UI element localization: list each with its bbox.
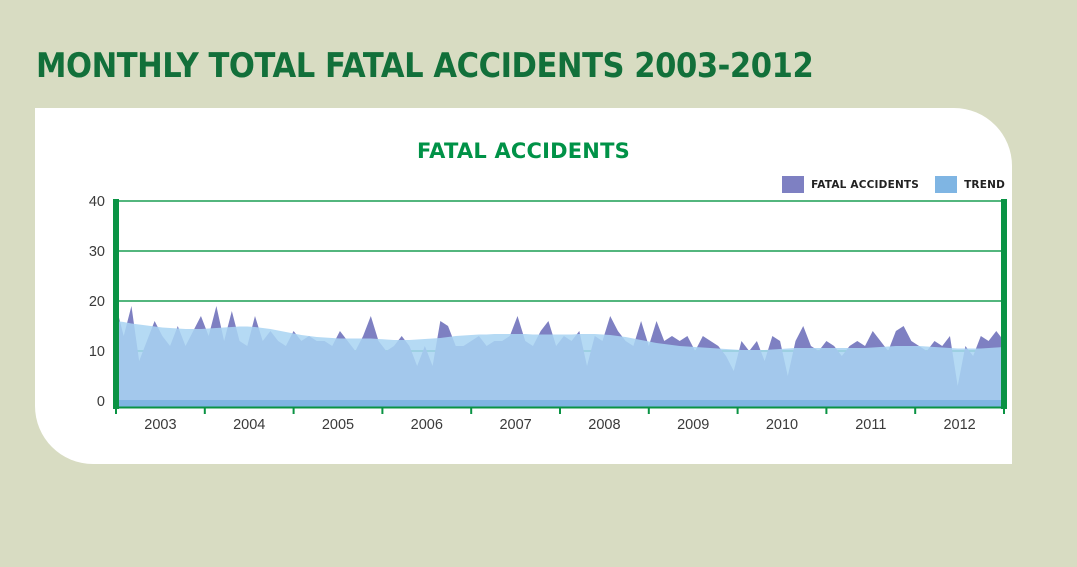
legend-label-trend: TREND [964, 179, 1005, 191]
legend-swatch-fatal-accidents [782, 176, 804, 193]
series-area-trend [116, 321, 1004, 401]
fatal-accidents-area-chart: 0102030402003200420052006200720082009201… [78, 193, 1010, 433]
y-axis-tick-label: 30 [89, 244, 105, 260]
y-axis-tick-label: 10 [89, 344, 105, 360]
page-title: MONTHLY TOTAL FATAL ACCIDENTS 2003-2012 [36, 46, 813, 86]
x-axis-tick-label: 2003 [144, 417, 176, 433]
chart-legend: FATAL ACCIDENTS TREND [782, 176, 1005, 193]
x-axis-tick-label: 2009 [677, 417, 709, 433]
x-axis-tick-label: 2006 [411, 417, 443, 433]
x-axis-bar [116, 400, 1004, 407]
chart-title: FATAL ACCIDENTS [35, 139, 1012, 163]
x-axis-tick-label: 2007 [499, 417, 531, 433]
legend-label-fatal-accidents: FATAL ACCIDENTS [811, 179, 919, 191]
y-axis-tick-label: 0 [97, 394, 105, 410]
chart-render-root: 0102030402003200420052006200720082009201… [89, 194, 1007, 433]
legend-swatch-trend [935, 176, 957, 193]
chart-card: FATAL ACCIDENTS FATAL ACCIDENTS TREND 01… [35, 108, 1012, 464]
legend-item-fatal-accidents[interactable]: FATAL ACCIDENTS [782, 176, 919, 193]
legend-item-trend[interactable]: TREND [935, 176, 1005, 193]
x-axis-tick-label: 2012 [943, 417, 975, 433]
x-axis-tick-label: 2010 [766, 417, 798, 433]
x-axis-tick-label: 2011 [855, 417, 886, 433]
y-axis-tick-label: 20 [89, 294, 105, 310]
x-axis-tick-label: 2005 [322, 417, 354, 433]
y-axis-tick-label: 40 [89, 194, 105, 210]
plot-right-border [1001, 199, 1007, 409]
x-axis-tick-label: 2008 [588, 417, 620, 433]
series-group [116, 306, 1004, 401]
plot-area: 0102030402003200420052006200720082009201… [78, 193, 1010, 433]
x-axis-tick-label: 2004 [233, 417, 265, 433]
y-axis-line [113, 199, 119, 409]
